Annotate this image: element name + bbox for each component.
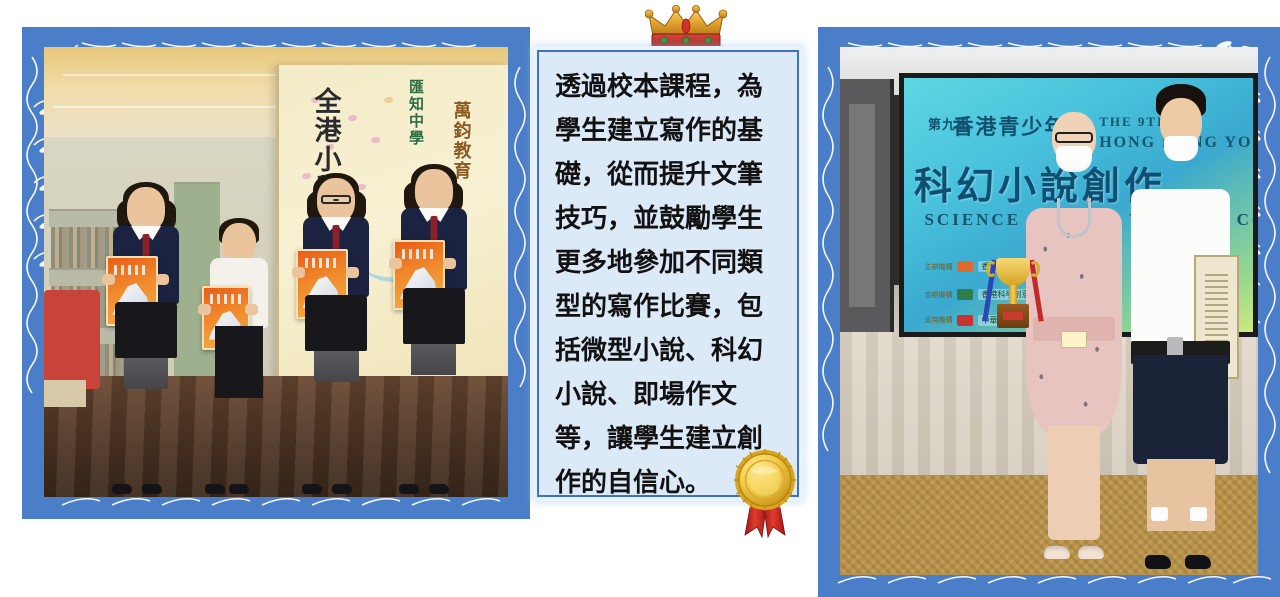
trousers: [215, 326, 263, 398]
photo-right-image: 第九屆 香港青少年 科幻小說創作 THE 9TH HONG KONG YOUTH…: [840, 47, 1258, 575]
trophy-stem: [1009, 285, 1017, 305]
shoe: [399, 484, 419, 494]
glasses: [1055, 132, 1093, 143]
shoe: [429, 484, 449, 494]
hand: [245, 304, 258, 315]
necktie: [333, 225, 340, 249]
shoe: [1145, 555, 1171, 569]
necktie: [143, 234, 150, 258]
photo-frame-right[interactable]: 第九屆 香港青少年 科幻小說創作 THE 9TH HONG KONG YOUTH…: [818, 27, 1280, 597]
trophy: [990, 258, 1036, 336]
trophy-cup: [996, 258, 1030, 286]
award-medal-icon: [731, 447, 799, 539]
shoe: [1044, 546, 1070, 559]
door-frame: [840, 79, 894, 332]
sock: [1190, 507, 1207, 521]
skirt: [403, 288, 465, 344]
student-figure: [1124, 84, 1237, 559]
head: [127, 187, 165, 231]
ceiling-line: [53, 106, 276, 108]
hand: [102, 274, 115, 285]
sock: [1151, 507, 1168, 521]
shoe: [1185, 555, 1211, 569]
award-ceremony-scene: 第九屆 香港青少年 科幻小說創作 THE 9TH HONG KONG YOUTH…: [840, 47, 1258, 575]
table: [44, 380, 86, 407]
glasses: [321, 195, 351, 204]
hand: [156, 274, 169, 285]
lanyard: [1057, 198, 1091, 238]
head: [415, 169, 453, 213]
skirt: [305, 295, 367, 351]
slide-canvas: 全港小學微型小說徵寫大賽 匯知中學 萬鈞教育 201: [0, 0, 1280, 597]
student-figure: [100, 182, 193, 488]
shoe: [332, 484, 352, 494]
photo-left-image: 全港小學微型小說徵寫大賽 匯知中學 萬鈞教育 201: [44, 47, 508, 497]
chair: [44, 290, 100, 389]
hand: [389, 258, 402, 269]
necktie: [430, 216, 437, 240]
crown-icon: [645, 4, 727, 54]
photo-frame-left[interactable]: 全港小學微型小說徵寫大賽 匯知中學 萬鈞教育 201: [22, 27, 530, 519]
student-figure: [387, 164, 480, 488]
face-mask: [1056, 146, 1092, 172]
description-panel[interactable]: 透過校本課程，為學生建立寫作的基礎，從而提升文筆技巧，並鼓勵學生更多地參加不同類…: [537, 50, 799, 497]
shorts: [1133, 355, 1228, 464]
shoe: [1078, 546, 1104, 559]
sponsor-role: 支持機構: [924, 315, 952, 325]
description-paragraph: 透過校本課程，為學生建立寫作的基礎，從而提升文筆技巧，並鼓勵學生更多地參加不同類…: [555, 64, 783, 504]
hand: [292, 267, 305, 278]
sponsor-logo-mark: [957, 289, 973, 300]
hand: [198, 304, 211, 315]
sponsor-logo-mark: [957, 315, 973, 326]
shoe: [205, 484, 225, 494]
hand: [346, 267, 359, 278]
library-scene: 全港小學微型小說徵寫大賽 匯知中學 萬鈞教育 201: [44, 47, 508, 497]
id-badge: [1061, 331, 1087, 348]
sponsor-role: 主辦機構: [924, 262, 952, 272]
student-figure: [290, 173, 383, 488]
shoe: [142, 484, 162, 494]
legs: [1048, 426, 1100, 540]
banner-organiser-1: 匯知中學: [405, 79, 426, 147]
skirt: [115, 302, 177, 358]
face-mask: [1164, 136, 1198, 161]
hand: [443, 258, 456, 269]
head: [222, 223, 256, 263]
shoe: [302, 484, 322, 494]
shoe: [229, 484, 249, 494]
student-figure: [197, 218, 281, 488]
shoe: [112, 484, 132, 494]
sponsor-role: 合辦機構: [924, 290, 952, 300]
sponsor-logo-mark: [957, 261, 973, 272]
trophy-plate: [1003, 312, 1023, 320]
